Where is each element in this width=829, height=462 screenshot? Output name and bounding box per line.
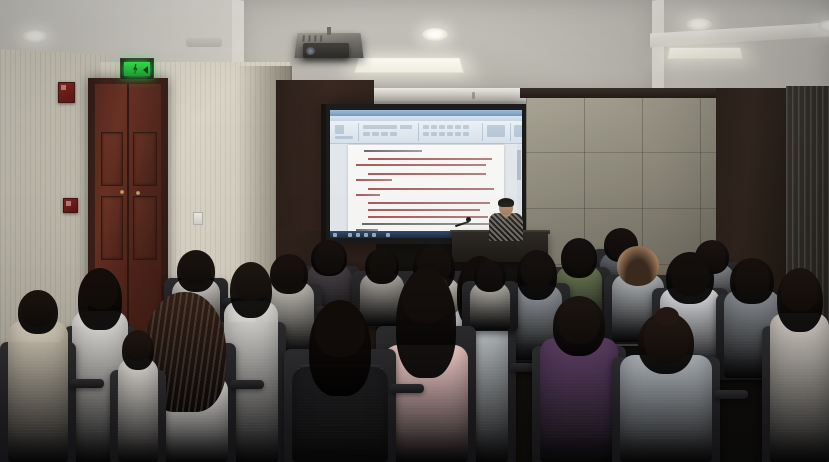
laser-pointer-tip <box>466 217 471 222</box>
downlight <box>686 18 712 31</box>
door-panel <box>133 132 157 186</box>
audience-member-hair <box>309 300 371 396</box>
audience-member-hair <box>396 268 456 378</box>
document-body-line <box>356 164 486 166</box>
chair-tablet-arm[interactable] <box>714 390 748 399</box>
audience-member-hair <box>230 262 272 318</box>
audience-member <box>292 300 388 462</box>
document-body-line <box>368 188 494 190</box>
hair-bun <box>655 307 679 326</box>
door-panel <box>101 196 123 260</box>
start-button-icon[interactable] <box>333 233 337 237</box>
audience-member-torso <box>540 338 618 462</box>
door-panel <box>101 132 123 186</box>
audience-member-hair <box>517 250 557 300</box>
audience-member-hair <box>730 258 774 304</box>
audience-member-hair <box>474 260 506 292</box>
light-switch[interactable] <box>193 212 203 225</box>
audience-member-torso <box>770 313 829 462</box>
downlight <box>22 30 48 43</box>
audience-member-hair <box>177 250 215 292</box>
word-document-page <box>348 145 504 233</box>
audience-member-hair <box>638 312 694 374</box>
taskbar-icon[interactable] <box>386 233 390 237</box>
taskbar-icon[interactable] <box>348 233 352 237</box>
ceiling-panel-light <box>354 58 464 73</box>
audience-member-hair <box>617 246 659 286</box>
document-body-line <box>368 209 480 211</box>
chair-tablet-arm[interactable] <box>390 384 424 393</box>
projector-lens-icon <box>306 47 315 55</box>
document-body-line <box>356 194 380 196</box>
chair-tablet-arm[interactable] <box>230 380 264 389</box>
running-man-icon <box>133 64 138 74</box>
air-vent <box>186 38 222 47</box>
exit-sign-glow <box>124 62 150 76</box>
document-body-line <box>356 179 392 181</box>
sprinkler-head <box>472 92 475 99</box>
presenter-speaker <box>489 199 523 241</box>
audience-member <box>8 290 68 462</box>
audience-member-hair <box>122 330 154 370</box>
audience-member <box>770 268 829 462</box>
audience-member-hair <box>311 240 347 276</box>
word-ribbon-toolbar[interactable] <box>330 121 522 144</box>
projector-mount <box>327 27 331 35</box>
taskbar-icon[interactable] <box>364 233 368 237</box>
audience-member-hair <box>777 268 823 332</box>
brass-door-knob[interactable] <box>120 190 124 194</box>
audience-member-hair <box>666 252 714 304</box>
document-body-line <box>368 202 490 204</box>
audience-member-torso <box>8 321 68 462</box>
taskbar-icon[interactable] <box>356 233 360 237</box>
brass-door-knob[interactable] <box>136 191 140 195</box>
document-body-line <box>368 158 492 160</box>
eyeglasses-icon <box>500 205 512 209</box>
audience-member <box>384 268 468 462</box>
fire-alarm-device <box>58 82 75 103</box>
audience-member <box>620 312 712 462</box>
document-body-line <box>368 173 486 175</box>
audience-member-hair <box>561 238 597 278</box>
arrow-right-icon <box>143 66 148 74</box>
chair-tablet-arm[interactable] <box>70 379 104 388</box>
audience-member-hair <box>78 268 122 330</box>
audience-member-hair <box>553 296 605 356</box>
audience-member-torso <box>118 358 158 462</box>
fire-alarm-device <box>63 198 78 213</box>
audience-member-hair <box>18 290 58 334</box>
meeting-room-photo: EXIT <box>0 0 829 462</box>
screen-bezel-left <box>321 104 326 244</box>
audience-member <box>540 296 618 462</box>
door-panel <box>133 196 157 260</box>
downlight <box>422 28 448 41</box>
exit-sign <box>120 58 154 80</box>
document-body-line <box>362 223 490 225</box>
ceiling-panel-light <box>667 47 744 59</box>
taskbar-icon[interactable] <box>372 233 376 237</box>
document-heading-line <box>364 150 422 152</box>
audience-member <box>118 330 158 462</box>
audience-member <box>470 260 510 330</box>
